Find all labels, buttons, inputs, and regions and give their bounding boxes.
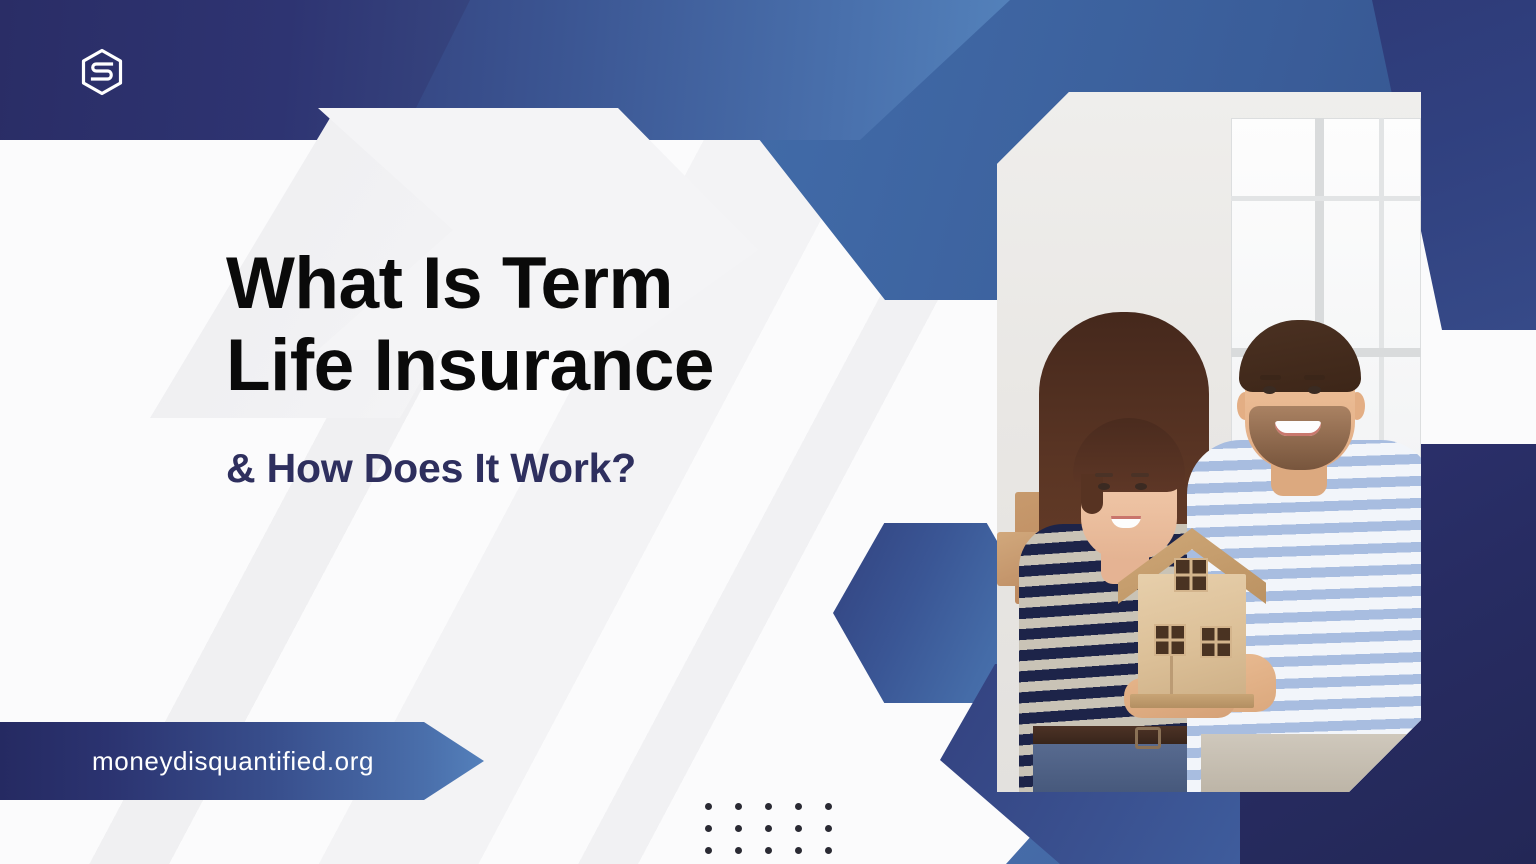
dot xyxy=(825,803,832,810)
man-eye-right xyxy=(1308,386,1321,394)
dot xyxy=(765,847,772,854)
dot xyxy=(705,803,712,810)
man-eyebrow-left xyxy=(1260,375,1281,380)
page-subtitle: & How Does It Work? xyxy=(226,445,714,492)
man-hair xyxy=(1239,320,1361,392)
woman-eyebrow-left xyxy=(1095,473,1113,477)
dot xyxy=(795,803,802,810)
woman-eye-left xyxy=(1098,483,1110,490)
woman-eye-right xyxy=(1135,483,1147,490)
dot-grid-decoration xyxy=(705,803,855,864)
house-window-left xyxy=(1154,624,1186,656)
dot xyxy=(765,825,772,832)
man-eye-left xyxy=(1263,386,1276,394)
hexagon-s-logo-icon[interactable] xyxy=(78,48,126,96)
dot xyxy=(825,847,832,854)
dot xyxy=(735,803,742,810)
headline-block: What Is Term Life Insurance & How Does I… xyxy=(226,243,714,492)
page-title: What Is Term Life Insurance xyxy=(226,243,714,407)
house-window-attic xyxy=(1174,558,1208,592)
woman-eyebrow-right xyxy=(1131,473,1149,477)
wooden-house-model-icon xyxy=(1128,528,1256,710)
poster-canvas: What Is Term Life Insurance & How Does I… xyxy=(0,0,1536,864)
site-url-text: moneydisquantified.org xyxy=(92,746,374,777)
dot xyxy=(735,847,742,854)
dot xyxy=(735,825,742,832)
man-eyebrow-right xyxy=(1304,375,1325,380)
house-window-right xyxy=(1200,626,1232,658)
dot xyxy=(765,803,772,810)
dot xyxy=(825,825,832,832)
dot xyxy=(795,825,802,832)
site-url-ribbon[interactable]: moneydisquantified.org xyxy=(0,722,484,800)
dot xyxy=(795,847,802,854)
dot xyxy=(705,825,712,832)
man-smile xyxy=(1275,421,1321,436)
house-base xyxy=(1130,694,1254,708)
dot xyxy=(705,847,712,854)
